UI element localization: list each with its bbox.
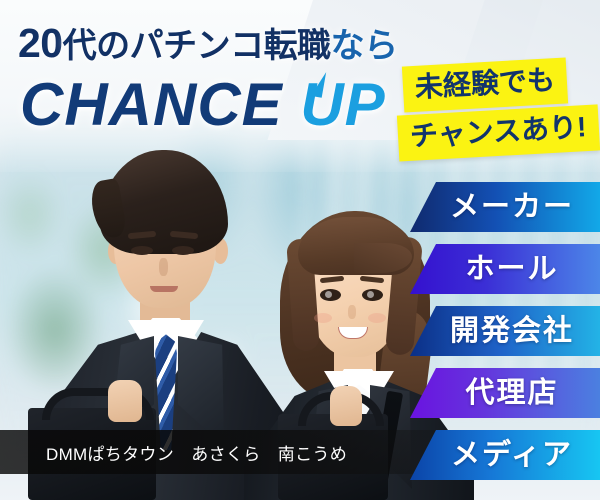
category-button-list: メーカー ホール 開発会社 代理店 メディア [0,0,600,500]
category-button-media[interactable]: メディア [410,430,600,480]
category-button-hall[interactable]: ホール [410,244,600,294]
category-button-agency[interactable]: 代理店 [410,368,600,418]
category-label-maker: メーカー [436,193,574,222]
category-label-development-company: 開発会社 [436,317,574,346]
category-button-development-company[interactable]: 開発会社 [410,306,600,356]
category-label-media: メディア [437,441,573,470]
pachinko-career-banner: 20代のパチンコ転職なら CHANCE UP 未経験でも チャンスあり! メーカ… [0,0,600,500]
category-button-maker[interactable]: メーカー [410,182,600,232]
category-label-agency: 代理店 [451,379,558,408]
category-label-hall: ホール [451,255,558,284]
